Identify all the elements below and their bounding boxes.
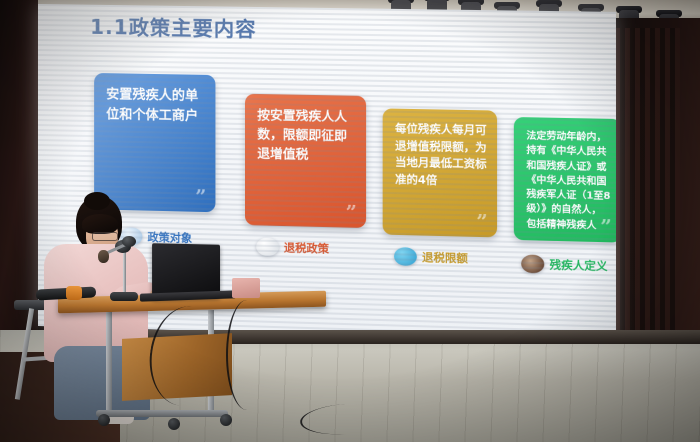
table-base xyxy=(96,410,228,417)
legend-label: 退税限额 xyxy=(422,249,468,267)
document-circle-icon xyxy=(256,238,278,257)
microphone-base xyxy=(110,292,138,301)
desk-nameplate xyxy=(232,278,260,298)
cable xyxy=(226,300,268,410)
card-disabled-definition-text: 法定劳动年龄内，持有《中华人民共和国残疾人证》或《中华人民共和国残疾军人证（1至… xyxy=(526,130,610,234)
card-refund-policy-text: 按安置残疾人人数，限额即征即退增值税 xyxy=(257,106,356,165)
legend-item-refund-policy: 退税政策 xyxy=(256,238,329,258)
card-refund-policy: 按安置残疾人人数，限额即征即退增值税 ” xyxy=(245,94,366,228)
table-caster xyxy=(220,414,232,426)
card-disabled-definition: 法定劳动年龄内，持有《中华人民共和国残疾人证》或《中华人民共和国残疾军人证（1至… xyxy=(514,117,616,243)
card-policy-target: 安置残疾人的单位和个体工商户 ” xyxy=(94,73,215,212)
quote-mark-icon: ” xyxy=(346,203,357,223)
table-leg xyxy=(106,306,112,416)
quote-mark-icon: ” xyxy=(195,188,206,207)
table-caster xyxy=(168,418,180,430)
legend-label: 退税政策 xyxy=(284,239,329,256)
presenter-fringe xyxy=(82,214,118,234)
quote-mark-icon: ” xyxy=(476,212,487,232)
card-refund-limit: 每位残疾人每月可退增值税限额，为当地月最低工资标准的4倍 ” xyxy=(383,108,497,237)
page-title: 1.1政策主要内容 xyxy=(90,11,257,43)
legend-item-disabled-definition: 残疾人定义 xyxy=(521,254,607,275)
card-policy-target-text: 安置残疾人的单位和个体工商户 xyxy=(106,85,205,126)
legend-label: 残疾人定义 xyxy=(550,256,608,274)
conference-hall-photo: 1.1政策主要内容 安置残疾人的单位和个体工商户 ” 按安置残疾人人数，限额即征… xyxy=(0,0,700,442)
card-refund-limit-text: 每位残疾人每月可退增值税限额，为当地月最低工资标准的4倍 xyxy=(395,121,487,190)
handheld-microphone-grip xyxy=(66,286,82,300)
certificate-circle-icon xyxy=(521,254,544,273)
secondary-microphone xyxy=(96,236,136,262)
legend-item-refund-limit: 退税限额 xyxy=(394,247,468,267)
quote-mark-icon: ” xyxy=(600,217,612,237)
coins-circle-icon xyxy=(394,247,417,266)
presenter-hair-bun xyxy=(84,192,110,210)
table-caster xyxy=(98,414,110,426)
